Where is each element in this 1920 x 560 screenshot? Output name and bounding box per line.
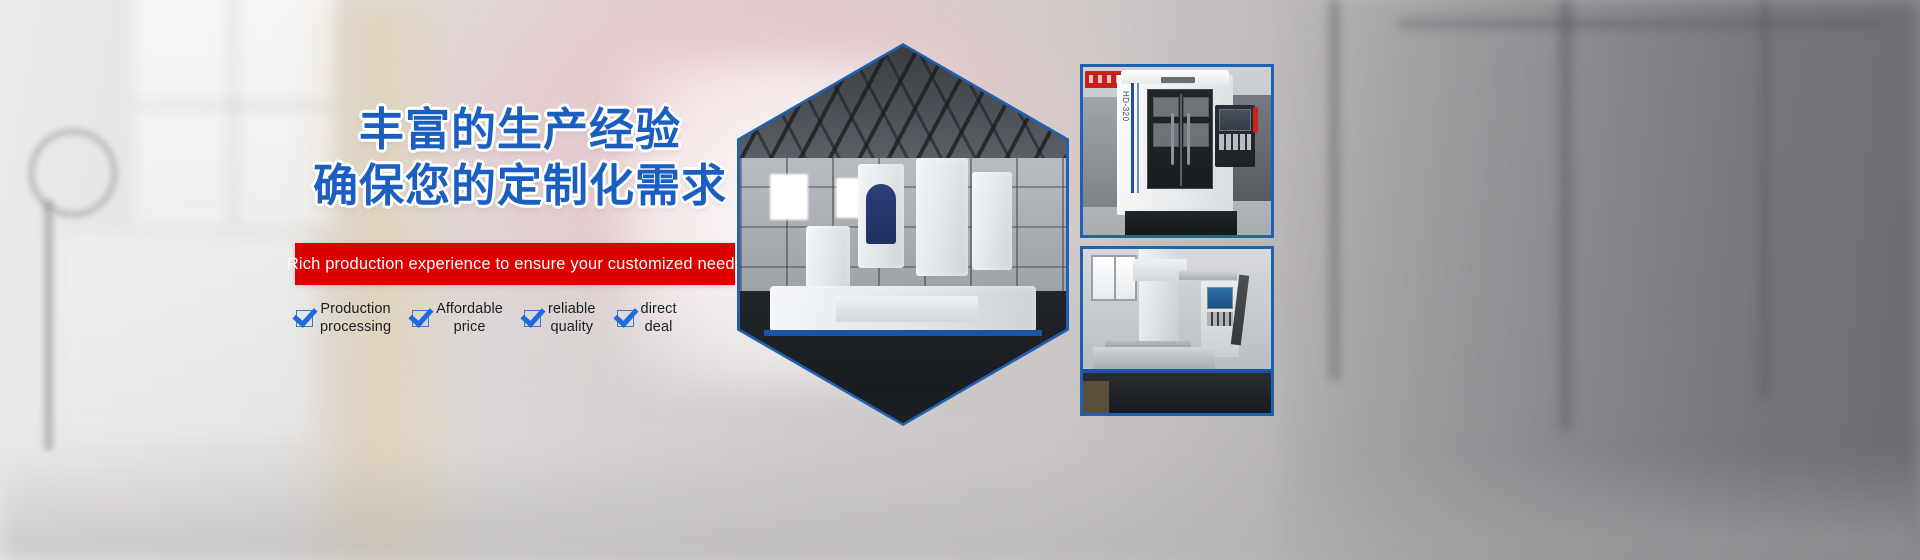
- tile-machine-model-label: HD-320: [1121, 91, 1130, 122]
- feature-item-affordable-price[interactable]: Affordable price: [412, 300, 503, 336]
- tile-cnc-keypad: [1207, 312, 1233, 326]
- headline-line-1: 丰富的生产经验: [300, 104, 740, 156]
- background-fan-shape: [28, 128, 118, 218]
- background-beam-1: [1560, 0, 1572, 430]
- background-beam-cross: [1400, 20, 1880, 28]
- photo-roof-truss-b: [740, 46, 1066, 166]
- checkbox-checked-icon[interactable]: [296, 310, 313, 327]
- background-beam-2: [1760, 0, 1770, 400]
- subtitle-bar: Rich production experience to ensure you…: [295, 243, 735, 285]
- photo-tile-hd320-machining-center[interactable]: HD-320: [1080, 64, 1274, 238]
- feature-list: Production processing Affordable price r…: [296, 300, 746, 350]
- banner-headline: 丰富的生产经验 确保您的定制化需求: [300, 104, 740, 212]
- feature-item-reliable-quality[interactable]: reliable quality: [524, 300, 596, 336]
- photo-machine-blue-panel: [866, 184, 896, 244]
- photo-blue-accent-strip: [764, 330, 1042, 336]
- tile-pallet: [1083, 381, 1109, 413]
- tile-machine-bed: [1083, 373, 1271, 416]
- tile-door-handle-left: [1171, 113, 1174, 165]
- tile-cnc-screen: [1207, 287, 1233, 309]
- photo-machine-column-far-right: [972, 172, 1012, 270]
- feature-label: reliable quality: [548, 300, 596, 336]
- checkbox-checked-icon[interactable]: [412, 310, 429, 327]
- background-pole-shape: [44, 200, 53, 450]
- photo-machine-column-right: [916, 158, 968, 276]
- tile-machine-stripe-dark: [1131, 83, 1134, 193]
- headline-line-2: 确保您的定制化需求: [300, 160, 740, 212]
- feature-label: Affordable price: [436, 300, 503, 336]
- tile-machine-plinth: [1125, 211, 1237, 235]
- photo-floor-shadow: [740, 383, 1066, 423]
- promo-banner: 丰富的生产经验 确保您的定制化需求 Rich production experi…: [0, 0, 1920, 560]
- tile-control-screen: [1219, 109, 1251, 131]
- background-beam-3: [1330, 0, 1339, 380]
- feature-item-production-processing[interactable]: Production processing: [296, 300, 391, 336]
- tile-left-equipment: [1083, 97, 1117, 207]
- tile-workshop-window: [1091, 255, 1137, 301]
- photo-tile-cnc-boring-machine[interactable]: [1080, 246, 1274, 416]
- hexagon-photo-frame[interactable]: [737, 43, 1069, 426]
- tile-door-window-1: [1153, 97, 1179, 117]
- feature-label: Production processing: [320, 300, 391, 336]
- checkbox-checked-icon[interactable]: [617, 310, 634, 327]
- tile-cross-rail: [1179, 271, 1237, 280]
- feature-item-direct-deal[interactable]: direct deal: [617, 300, 677, 336]
- tile-emergency-stop-strip: [1253, 107, 1258, 133]
- checkbox-checked-icon[interactable]: [524, 310, 541, 327]
- tile-machine-logo: [1161, 77, 1195, 83]
- feature-label: direct deal: [641, 300, 677, 336]
- tile-door-window-3: [1153, 123, 1179, 147]
- subtitle-text: Rich production experience to ensure you…: [287, 255, 743, 274]
- photo-work-table: [836, 296, 978, 322]
- tile-machine-stripe-light: [1137, 83, 1139, 193]
- background-floor-shade: [0, 450, 1920, 560]
- photo-window-light-1: [770, 174, 808, 220]
- background-window-left-lower: [60, 235, 315, 435]
- hexagon-photo-cnc-machining-center: [740, 46, 1066, 423]
- tile-door-handle-right: [1187, 113, 1190, 165]
- tile-control-keypad: [1219, 134, 1251, 150]
